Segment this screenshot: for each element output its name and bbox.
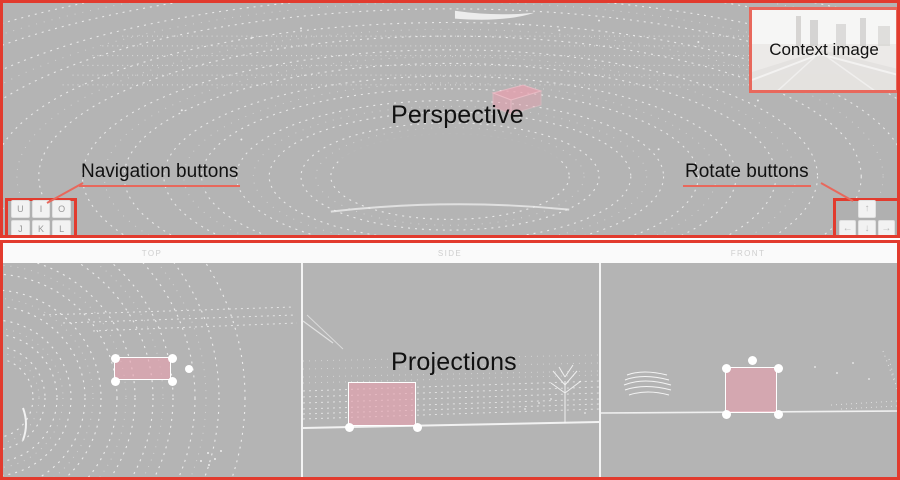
handle-bottom-right[interactable] bbox=[774, 410, 783, 419]
leader-line-navigation bbox=[43, 183, 87, 205]
rotate-row-bottom: ← ↓ → bbox=[839, 220, 895, 238]
arrow-left-icon[interactable]: ← bbox=[839, 220, 856, 238]
callout-navigation-buttons: Navigation buttons bbox=[79, 161, 240, 187]
arrow-down-icon[interactable]: ↓ bbox=[858, 220, 875, 238]
handle-top-right[interactable] bbox=[774, 364, 783, 373]
rotate-spacer-right bbox=[878, 200, 895, 218]
navigation-row-bottom: J K L bbox=[11, 220, 71, 238]
arrow-up-icon[interactable]: ↑ bbox=[858, 200, 875, 218]
projection-view-top[interactable] bbox=[3, 263, 301, 477]
key-k[interactable]: K bbox=[32, 220, 51, 238]
handle-bottom-left[interactable] bbox=[111, 377, 120, 386]
handle-bottom-left[interactable] bbox=[722, 410, 731, 419]
callout-rotate-label: Rotate buttons bbox=[683, 161, 811, 187]
projection-header-side: SIDE bbox=[301, 243, 599, 263]
handle-top-right[interactable] bbox=[168, 354, 177, 363]
annotation-tool-window: Perspective bbox=[0, 0, 900, 480]
annotation-box-side[interactable] bbox=[348, 382, 416, 426]
perspective-label: Perspective bbox=[391, 101, 524, 130]
annotation-box-front[interactable] bbox=[725, 367, 777, 413]
handle-top-left[interactable] bbox=[111, 354, 120, 363]
handle-bottom-right[interactable] bbox=[168, 377, 177, 386]
key-l[interactable]: L bbox=[52, 220, 71, 238]
projection-header-front: FRONT bbox=[599, 243, 897, 263]
key-u[interactable]: U bbox=[11, 200, 30, 218]
projection-header-top: TOP bbox=[3, 243, 301, 263]
projection-view-front[interactable] bbox=[601, 263, 897, 477]
projections-frame: TOP SIDE FRONT bbox=[0, 240, 900, 480]
context-image-panel[interactable]: Context image bbox=[749, 7, 899, 93]
handle-bottom-left[interactable] bbox=[345, 423, 354, 432]
handle-top-left[interactable] bbox=[722, 364, 731, 373]
handle-heading[interactable] bbox=[185, 365, 193, 373]
annotation-box-top[interactable] bbox=[114, 357, 171, 380]
callout-navigation-label: Navigation buttons bbox=[79, 161, 240, 187]
arrow-right-icon[interactable]: → bbox=[878, 220, 895, 238]
handle-top-center[interactable] bbox=[748, 356, 757, 365]
callout-rotate-buttons: Rotate buttons bbox=[683, 161, 811, 187]
context-image-label: Context image bbox=[752, 40, 896, 60]
leader-line-rotate bbox=[819, 183, 859, 205]
projections-panel: TOP SIDE FRONT bbox=[0, 240, 900, 480]
projections-label: Projections bbox=[391, 348, 517, 377]
handle-bottom-right[interactable] bbox=[413, 423, 422, 432]
perspective-view-panel[interactable]: Perspective bbox=[0, 0, 900, 238]
key-j[interactable]: J bbox=[11, 220, 30, 238]
